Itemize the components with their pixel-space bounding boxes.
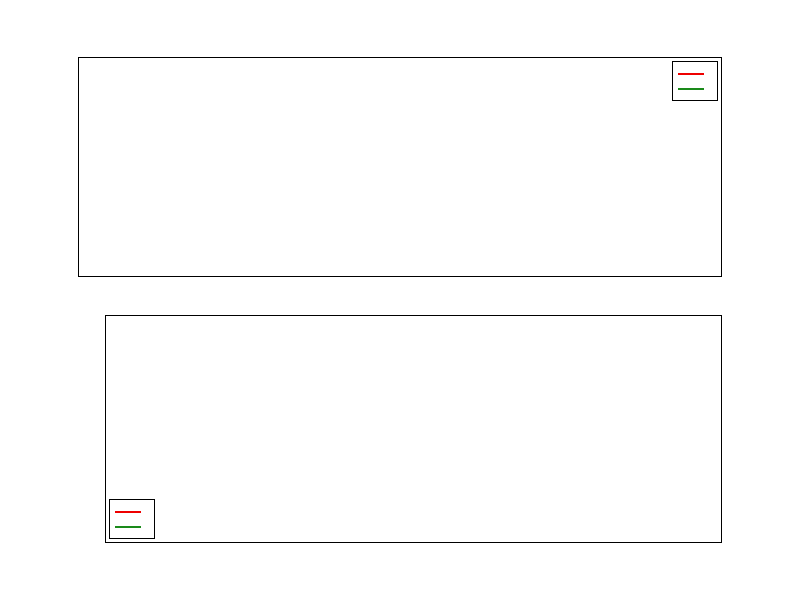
legend-swatch-xx2 xyxy=(115,511,141,513)
top-panel-legend xyxy=(672,61,718,101)
legend-item[interactable] xyxy=(678,66,711,81)
legend-swatch-yy2 xyxy=(115,526,141,528)
top-spectrum-panel xyxy=(78,57,722,277)
figure-canvas xyxy=(0,0,800,600)
bottom-plot-area xyxy=(106,316,721,542)
legend-item[interactable] xyxy=(115,519,148,534)
bottom-spectrum-panel xyxy=(105,315,722,543)
top-plot-area xyxy=(79,58,721,276)
legend-swatch-xx1 xyxy=(678,73,704,75)
bottom-panel-legend xyxy=(109,499,155,539)
legend-item[interactable] xyxy=(678,81,711,96)
legend-swatch-yy1 xyxy=(678,88,704,90)
legend-item[interactable] xyxy=(115,504,148,519)
